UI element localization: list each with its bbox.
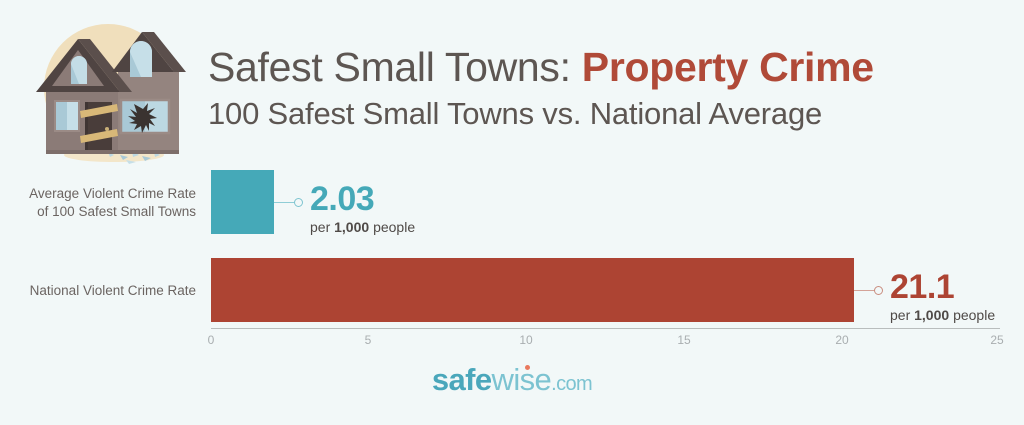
x-tick-25: 25 (990, 333, 1003, 347)
unit-prefix: per (890, 307, 910, 323)
x-tick-20: 20 (835, 333, 848, 347)
value-national: 21.1 (890, 269, 995, 305)
x-tick-15: 15 (677, 333, 690, 347)
x-tick-10: 10 (519, 333, 532, 347)
unit-number: 1,000 (914, 307, 949, 323)
chart-row-national: National Violent Crime Rate 21.1 per 1,0… (0, 258, 1024, 322)
x-tick-5: 5 (365, 333, 372, 347)
page-title: Safest Small Towns: Property Crime (208, 42, 1008, 92)
leader-line-national (854, 290, 876, 291)
callout-national: 21.1 per 1,000 people (890, 269, 995, 324)
chart-row-safest-towns: Average Violent Crime Rate of 100 Safest… (0, 170, 1024, 234)
bar-national (211, 258, 854, 322)
title-accent: Property Crime (582, 44, 874, 90)
bar-safest-towns (211, 170, 274, 234)
leader-line-safest-towns (274, 202, 296, 203)
callout-safest-towns: 2.03 per 1,000 people (310, 181, 415, 236)
bar-label-safest-towns: Average Violent Crime Rate of 100 Safest… (0, 185, 196, 221)
bar-label-line2: of 100 Safest Small Towns (0, 203, 196, 221)
unit-prefix: per (310, 219, 330, 235)
logo-safe: safe (432, 362, 492, 397)
logo-dot-icon (525, 365, 530, 370)
unit-suffix: people (953, 307, 995, 323)
title-main: Safest Small Towns: (208, 44, 571, 90)
bar-label-national: National Violent Crime Rate (0, 282, 196, 300)
safewise-logo[interactable]: safewise.com (0, 363, 1024, 401)
x-axis-line (211, 328, 1000, 329)
unit-safest-towns: per 1,000 people (310, 218, 415, 236)
page-subtitle: 100 Safest Small Towns vs. National Aver… (208, 94, 1008, 134)
header: Safest Small Towns: Property Crime 100 S… (208, 42, 1008, 134)
broken-house-illustration (22, 12, 200, 178)
unit-number: 1,000 (334, 219, 369, 235)
logo-wise: wise (492, 362, 552, 397)
x-tick-0: 0 (208, 333, 215, 347)
logo-text: safewise.com (432, 363, 592, 401)
unit-suffix: people (373, 219, 415, 235)
value-safest-towns: 2.03 (310, 181, 415, 217)
bar-label-line1: Average Violent Crime Rate (0, 185, 196, 203)
value-marker-safest-towns (294, 198, 303, 207)
bar-chart: Average Violent Crime Rate of 100 Safest… (0, 160, 1024, 360)
value-marker-national (874, 286, 883, 295)
unit-national: per 1,000 people (890, 306, 995, 324)
bar-label-line1: National Violent Crime Rate (0, 282, 196, 300)
logo-com: .com (551, 373, 592, 395)
